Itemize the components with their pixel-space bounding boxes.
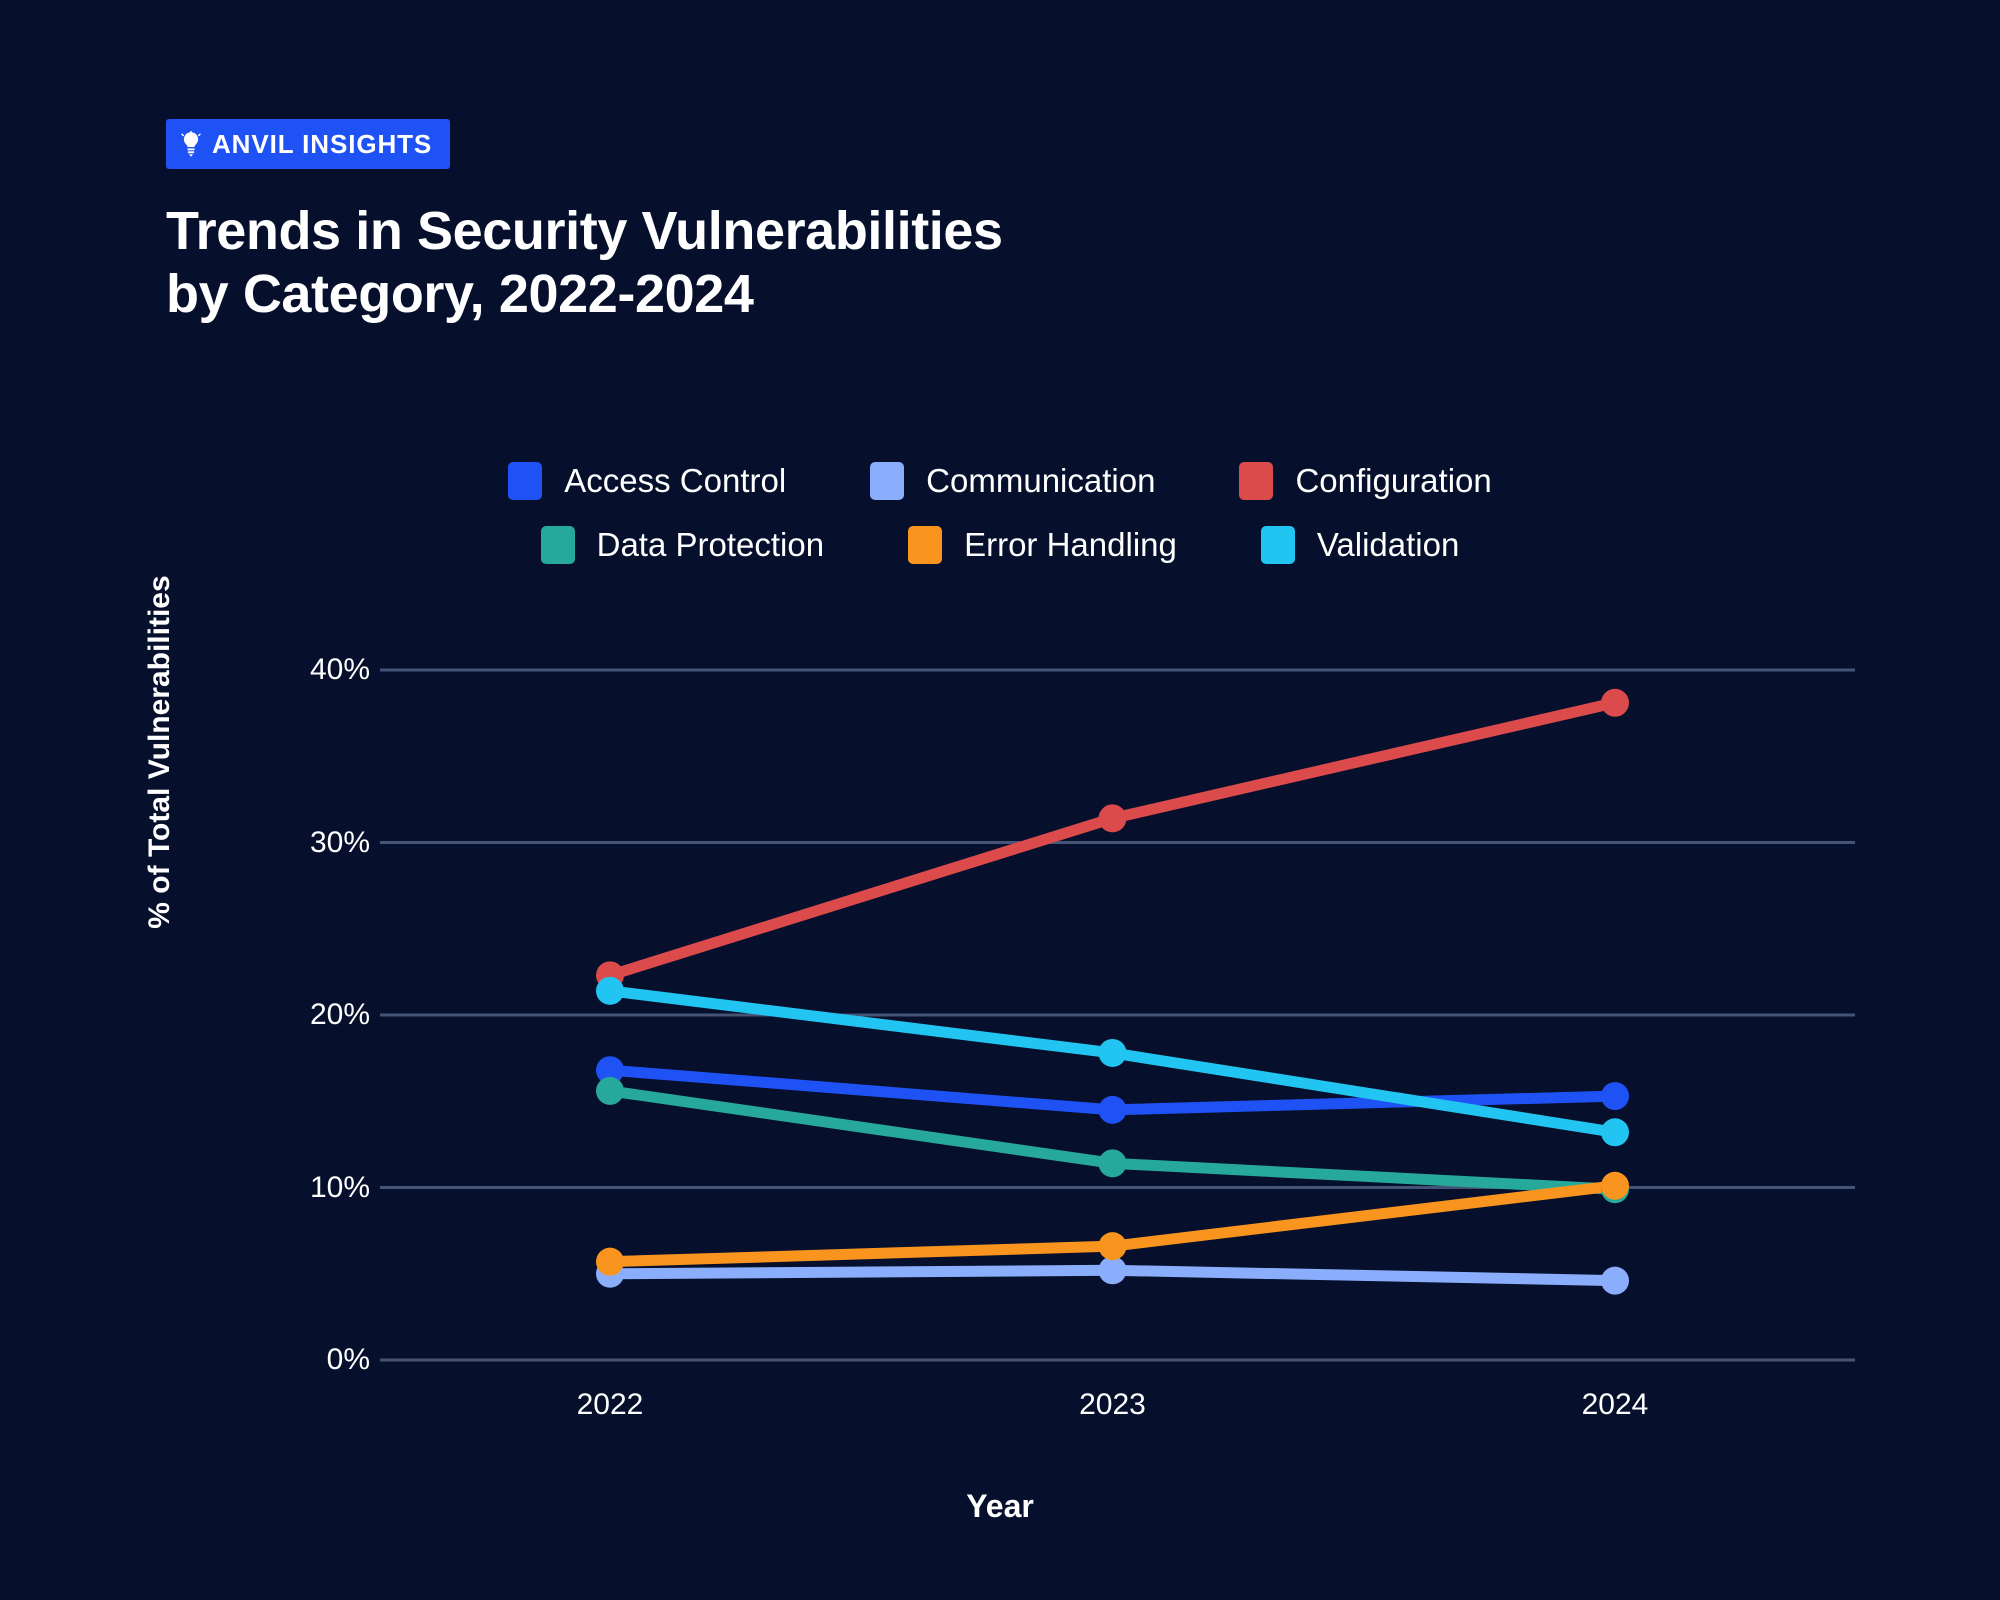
data-point-configuration[interactable]	[1601, 689, 1629, 717]
x-tick-label: 2024	[1582, 1388, 1649, 1422]
data-point-error-handling[interactable]	[1601, 1172, 1629, 1200]
x-tick-label: 2023	[1079, 1388, 1146, 1422]
chart-page: ANVIL INSIGHTS Trends in Security Vulner…	[0, 0, 2000, 1600]
data-point-validation[interactable]	[1099, 1039, 1127, 1067]
data-point-configuration[interactable]	[1099, 804, 1127, 832]
data-point-access-control[interactable]	[1601, 1082, 1629, 1110]
data-point-data-protection[interactable]	[596, 1077, 624, 1105]
x-tick-label: 2022	[577, 1388, 644, 1422]
data-point-communication[interactable]	[1601, 1267, 1629, 1295]
data-point-access-control[interactable]	[1099, 1096, 1127, 1124]
series-line-configuration	[610, 703, 1615, 976]
data-point-validation[interactable]	[596, 977, 624, 1005]
data-point-validation[interactable]	[1601, 1118, 1629, 1146]
data-point-error-handling[interactable]	[596, 1248, 624, 1276]
data-point-data-protection[interactable]	[1099, 1149, 1127, 1177]
data-point-error-handling[interactable]	[1099, 1232, 1127, 1260]
data-point-communication[interactable]	[1099, 1256, 1127, 1284]
x-axis-label: Year	[0, 1488, 2000, 1525]
line-chart-plot	[0, 0, 2000, 1600]
